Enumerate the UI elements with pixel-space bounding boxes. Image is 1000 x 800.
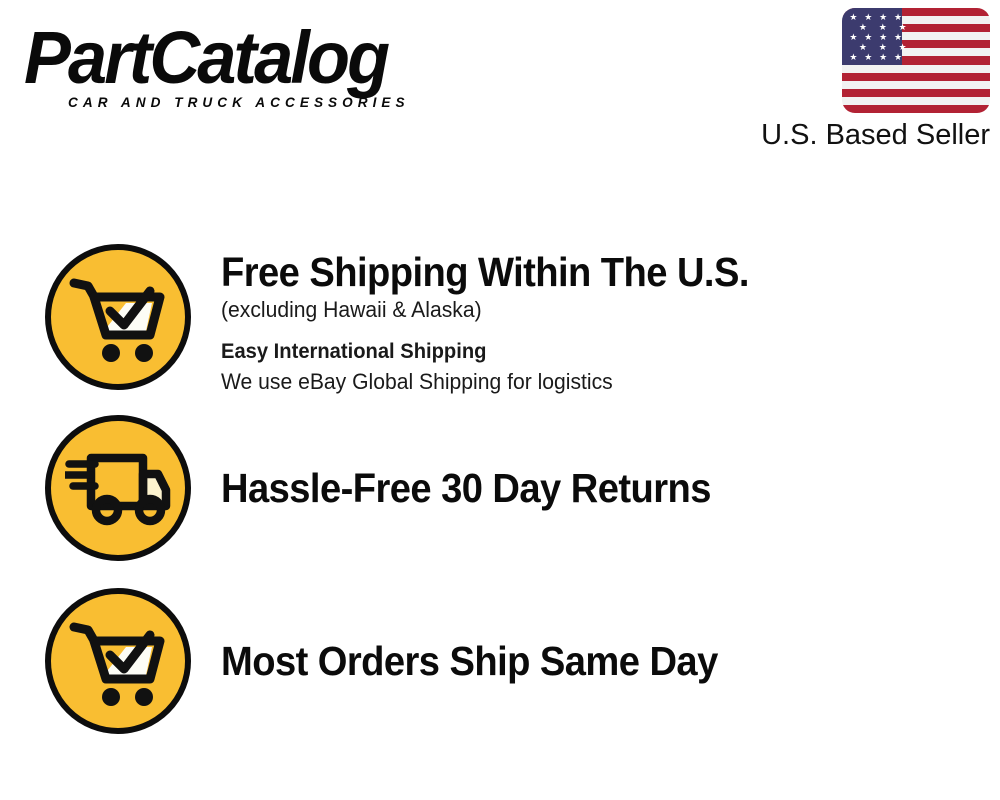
feature-same-day-shipping: Most Orders Ship Same Day: [45, 588, 755, 734]
feature-headline: Hassle-Free 30 Day Returns: [221, 466, 711, 510]
flag-canton: ★★★★ ★★★ ★★★★ ★★★ ★★★★: [842, 8, 902, 65]
shopping-cart-check-icon: [45, 588, 191, 734]
us-flag-icon: ★★★★ ★★★ ★★★★ ★★★ ★★★★: [842, 8, 990, 113]
us-based-seller-label: U.S. Based Seller: [761, 119, 990, 152]
feature-text-block: Most Orders Ship Same Day: [221, 639, 755, 683]
feature-subheading: Easy International Shipping: [221, 338, 766, 366]
us-based-seller-badge: ★★★★ ★★★ ★★★★ ★★★ ★★★★ U.S. Based Seller: [761, 8, 990, 152]
brand-logo: PartCatalog CAR AND TRUCK ACCESSORIES: [24, 24, 494, 110]
delivery-truck-icon: [45, 415, 191, 561]
feature-text-block: Free Shipping Within The U.S. (excluding…: [221, 244, 789, 396]
feature-free-shipping: Free Shipping Within The U.S. (excluding…: [45, 244, 789, 396]
feature-text-block: Hassle-Free 30 Day Returns: [221, 466, 748, 510]
feature-headline: Most Orders Ship Same Day: [221, 639, 718, 683]
feature-subtext: We use eBay Global Shipping for logistic…: [221, 367, 766, 396]
promo-banner: PartCatalog CAR AND TRUCK ACCESSORIES: [0, 0, 1000, 800]
feature-headline: Free Shipping Within The U.S.: [221, 250, 749, 294]
feature-returns: Hassle-Free 30 Day Returns: [45, 415, 748, 561]
brand-name: PartCatalog: [24, 24, 471, 92]
feature-note: (excluding Hawaii & Alaska): [221, 295, 766, 324]
brand-tagline: CAR AND TRUCK ACCESSORIES: [68, 94, 481, 110]
shopping-cart-check-icon: [45, 244, 191, 390]
